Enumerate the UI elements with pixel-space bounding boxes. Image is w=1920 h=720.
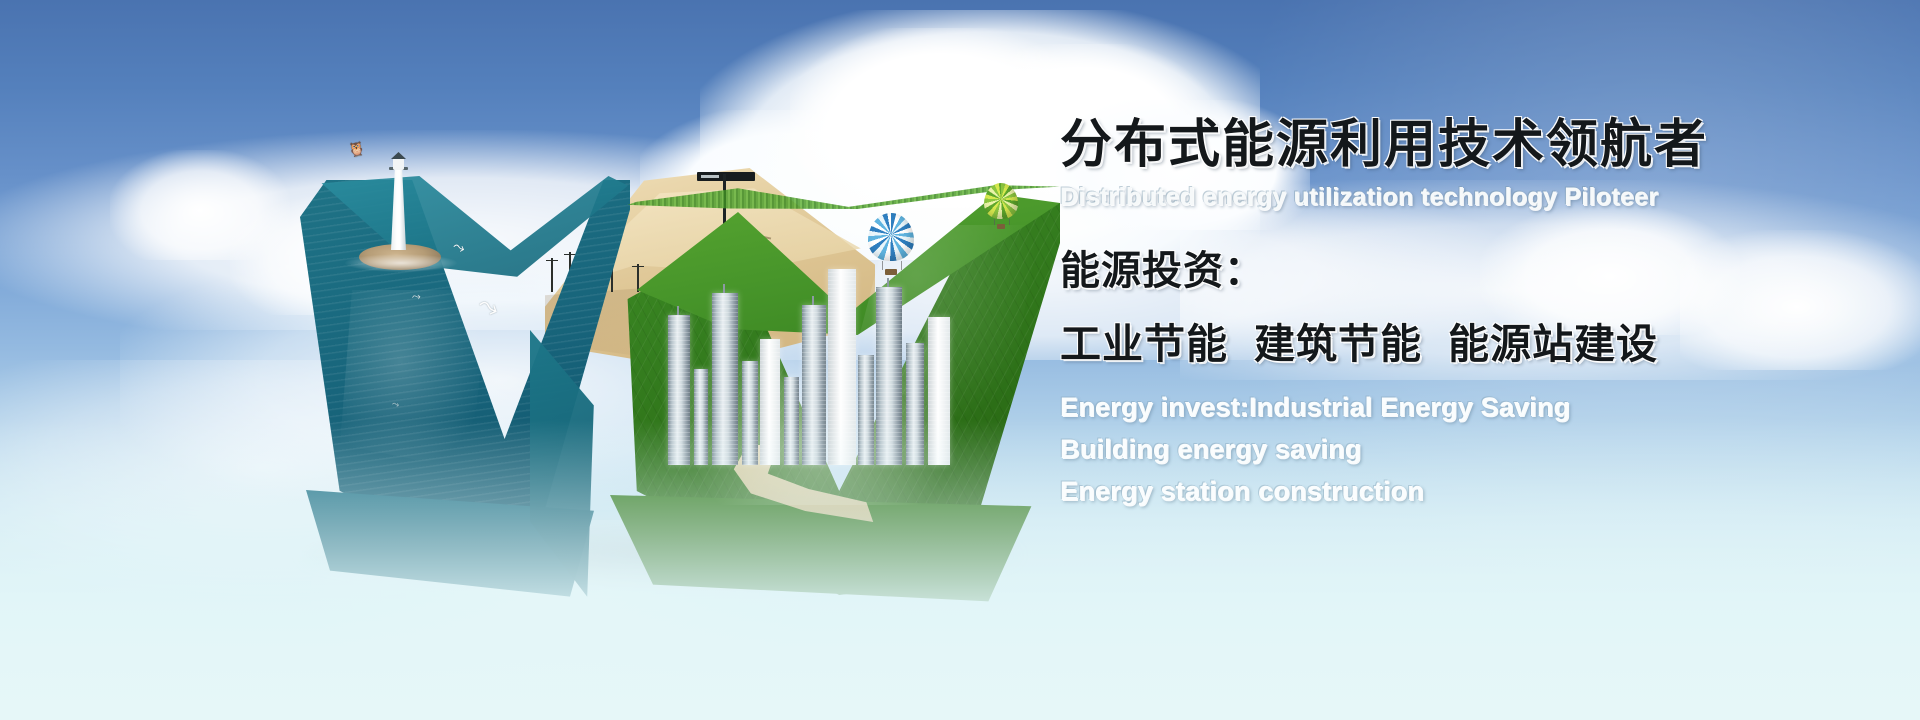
balloon-basket (997, 224, 1005, 229)
building-icon (906, 343, 924, 465)
building-icon (802, 305, 826, 465)
headline-chinese: 分布式能源利用技术领航者 (1060, 118, 1890, 173)
lighthouse-icon (385, 152, 411, 262)
headline-english: Distributed energy utilization technolog… (1060, 183, 1890, 212)
lighthouse-roof (391, 152, 406, 159)
seagull-icon: 🦉 (347, 140, 367, 157)
seagull-icon: ⤳ (391, 399, 400, 409)
building-icon (694, 369, 708, 465)
service-item-building: 建筑节能 (1254, 321, 1422, 367)
signpost-icon (697, 172, 755, 181)
shore-foam (345, 254, 457, 272)
hot-air-balloon-icon (868, 213, 914, 275)
building-icon (876, 287, 902, 465)
balloon-envelope (984, 183, 1018, 219)
building-icon (742, 361, 758, 465)
grass-v (600, 195, 1060, 595)
service-english-1: Energy invest:Industrial Energy Saving (1060, 392, 1890, 423)
service-english-3: Energy station construction (1060, 476, 1890, 507)
lighthouse-tower (391, 168, 406, 250)
services-chinese: 工业节能建筑节能能源站建设 (1060, 310, 1890, 370)
building-icon (858, 355, 874, 465)
w-letterform-artwork: ❦ ✾ 🦉 ⤳ ⤳ ⤳ ⤳ (0, 0, 1060, 720)
building-icon (760, 339, 780, 465)
ocean-v: 🦉 ⤳ ⤳ ⤳ ⤳ (300, 180, 630, 550)
lighthouse-lamp (393, 158, 404, 170)
service-english-2: Building energy saving (1060, 434, 1890, 465)
banner-copy: 分布式能源利用技术领航者 Distributed energy utilizat… (1060, 118, 1890, 507)
green-balloon-icon (984, 183, 1018, 229)
grass-front-edge (610, 495, 1040, 635)
service-item-station: 能源站建设 (1448, 321, 1658, 367)
ocean-highlight (340, 290, 490, 470)
building-icon (828, 269, 856, 465)
building-icon (668, 315, 690, 465)
balloon-basket (885, 269, 896, 275)
seagull-icon: ⤳ (411, 292, 421, 304)
building-icon (784, 377, 799, 465)
service-item-industrial: 工业节能 (1060, 321, 1228, 367)
city-skyline (660, 235, 970, 465)
hero-banner: ❦ ✾ 🦉 ⤳ ⤳ ⤳ ⤳ (0, 0, 1920, 720)
building-icon (928, 317, 950, 465)
balloon-envelope (868, 213, 914, 261)
section-label-chinese: 能源投资： (1060, 238, 1890, 296)
building-icon (712, 293, 738, 465)
